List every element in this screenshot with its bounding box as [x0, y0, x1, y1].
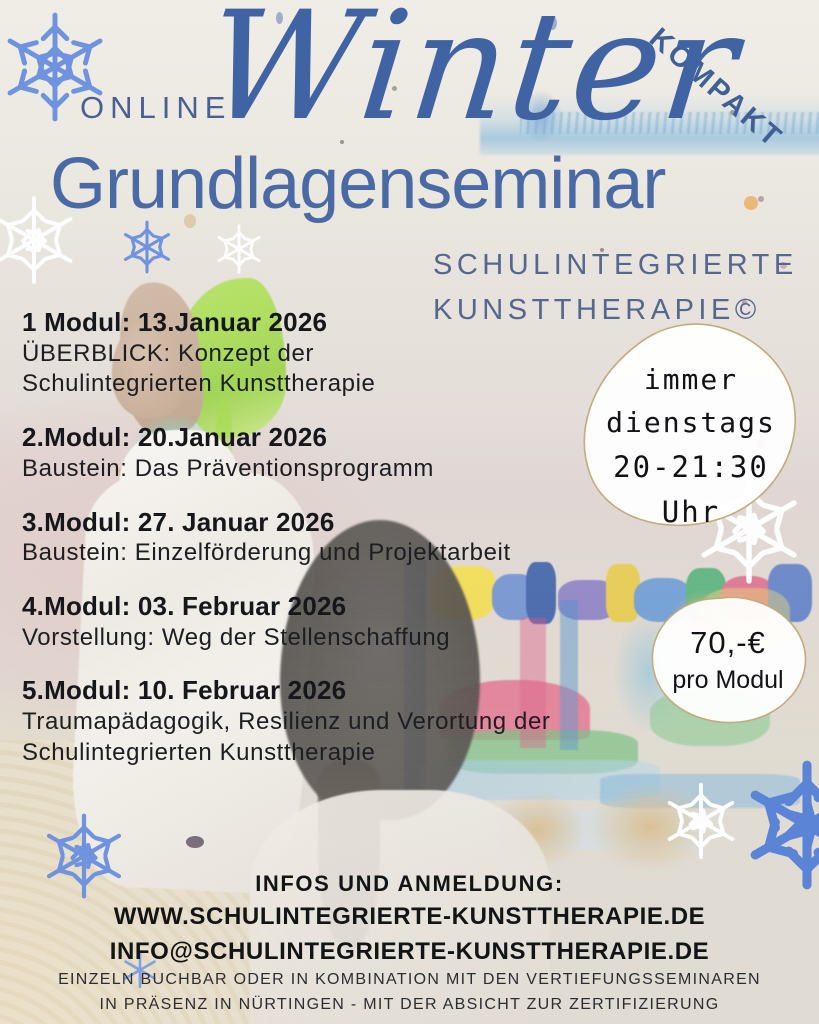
page-title: Grundlagenseminar	[50, 148, 665, 220]
subtitle-line-1: SCHULINTEGRIERTE	[433, 249, 798, 281]
module-item: 4.Modul: 03. Februar 2026Vorstellung: We…	[22, 591, 702, 653]
contact-website[interactable]: WWW.SCHULINTEGRIERTE-KUNSTTHERAPIE.DE	[0, 900, 819, 935]
schedule-line-2: dienstags	[580, 401, 802, 444]
script-word-winter: Winter	[200, 0, 745, 142]
module-description-line: Traumapädagogik, Resilienz und Verortung…	[22, 707, 702, 738]
contact-email[interactable]: INFO@SCHULINTEGRIERTE-KUNSTTHERAPIE.DE	[0, 935, 819, 970]
schedule-line-3: 20-21:30 Uhr	[580, 445, 802, 535]
seminar-poster: KOMPAKT Winter ONLINE Grundlagenseminar …	[0, 0, 819, 1024]
module-description: Traumapädagogik, Resilienz und Verortung…	[22, 707, 702, 768]
schedule-badge: immer dienstags 20-21:30 Uhr	[580, 322, 802, 532]
schedule-badge-text: immer dienstags 20-21:30 Uhr	[580, 322, 802, 535]
price-amount: 70,-€	[648, 622, 808, 664]
fineprint-line-2: IN PRÄSENZ IN NÜRTINGEN - MIT DER ABSICH…	[0, 993, 819, 1018]
eyebrow-online: ONLINE	[80, 90, 231, 126]
module-description-line: Schulintegrierten Kunsttherapie	[22, 738, 702, 769]
fineprint-block: EINZELN BUCHBAR ODER IN KOMBINATION MIT …	[0, 968, 819, 1018]
module-description-line: Baustein: Einzelförderung und Projektarb…	[22, 538, 702, 569]
price-badge-text: 70,-€ pro Modul	[648, 596, 808, 696]
contact-heading: INFOS UND ANMELDUNG:	[0, 868, 819, 900]
module-item: 5.Modul: 10. Februar 2026Traumapädagogik…	[22, 675, 702, 768]
module-description: Vorstellung: Weg der Stellenschaffung	[22, 623, 702, 654]
module-description: Baustein: Einzelförderung und Projektarb…	[22, 538, 702, 569]
module-title: 5.Modul: 10. Februar 2026	[22, 675, 702, 707]
module-description-line: Vorstellung: Weg der Stellenschaffung	[22, 623, 702, 654]
schedule-line-1: immer	[580, 358, 802, 401]
contact-block: INFOS UND ANMELDUNG: WWW.SCHULINTEGRIERT…	[0, 868, 819, 969]
price-badge: 70,-€ pro Modul	[648, 596, 808, 724]
price-unit: pro Modul	[648, 664, 808, 697]
fineprint-line-1: EINZELN BUCHBAR ODER IN KOMBINATION MIT …	[0, 968, 819, 993]
module-title: 4.Modul: 03. Februar 2026	[22, 591, 702, 623]
